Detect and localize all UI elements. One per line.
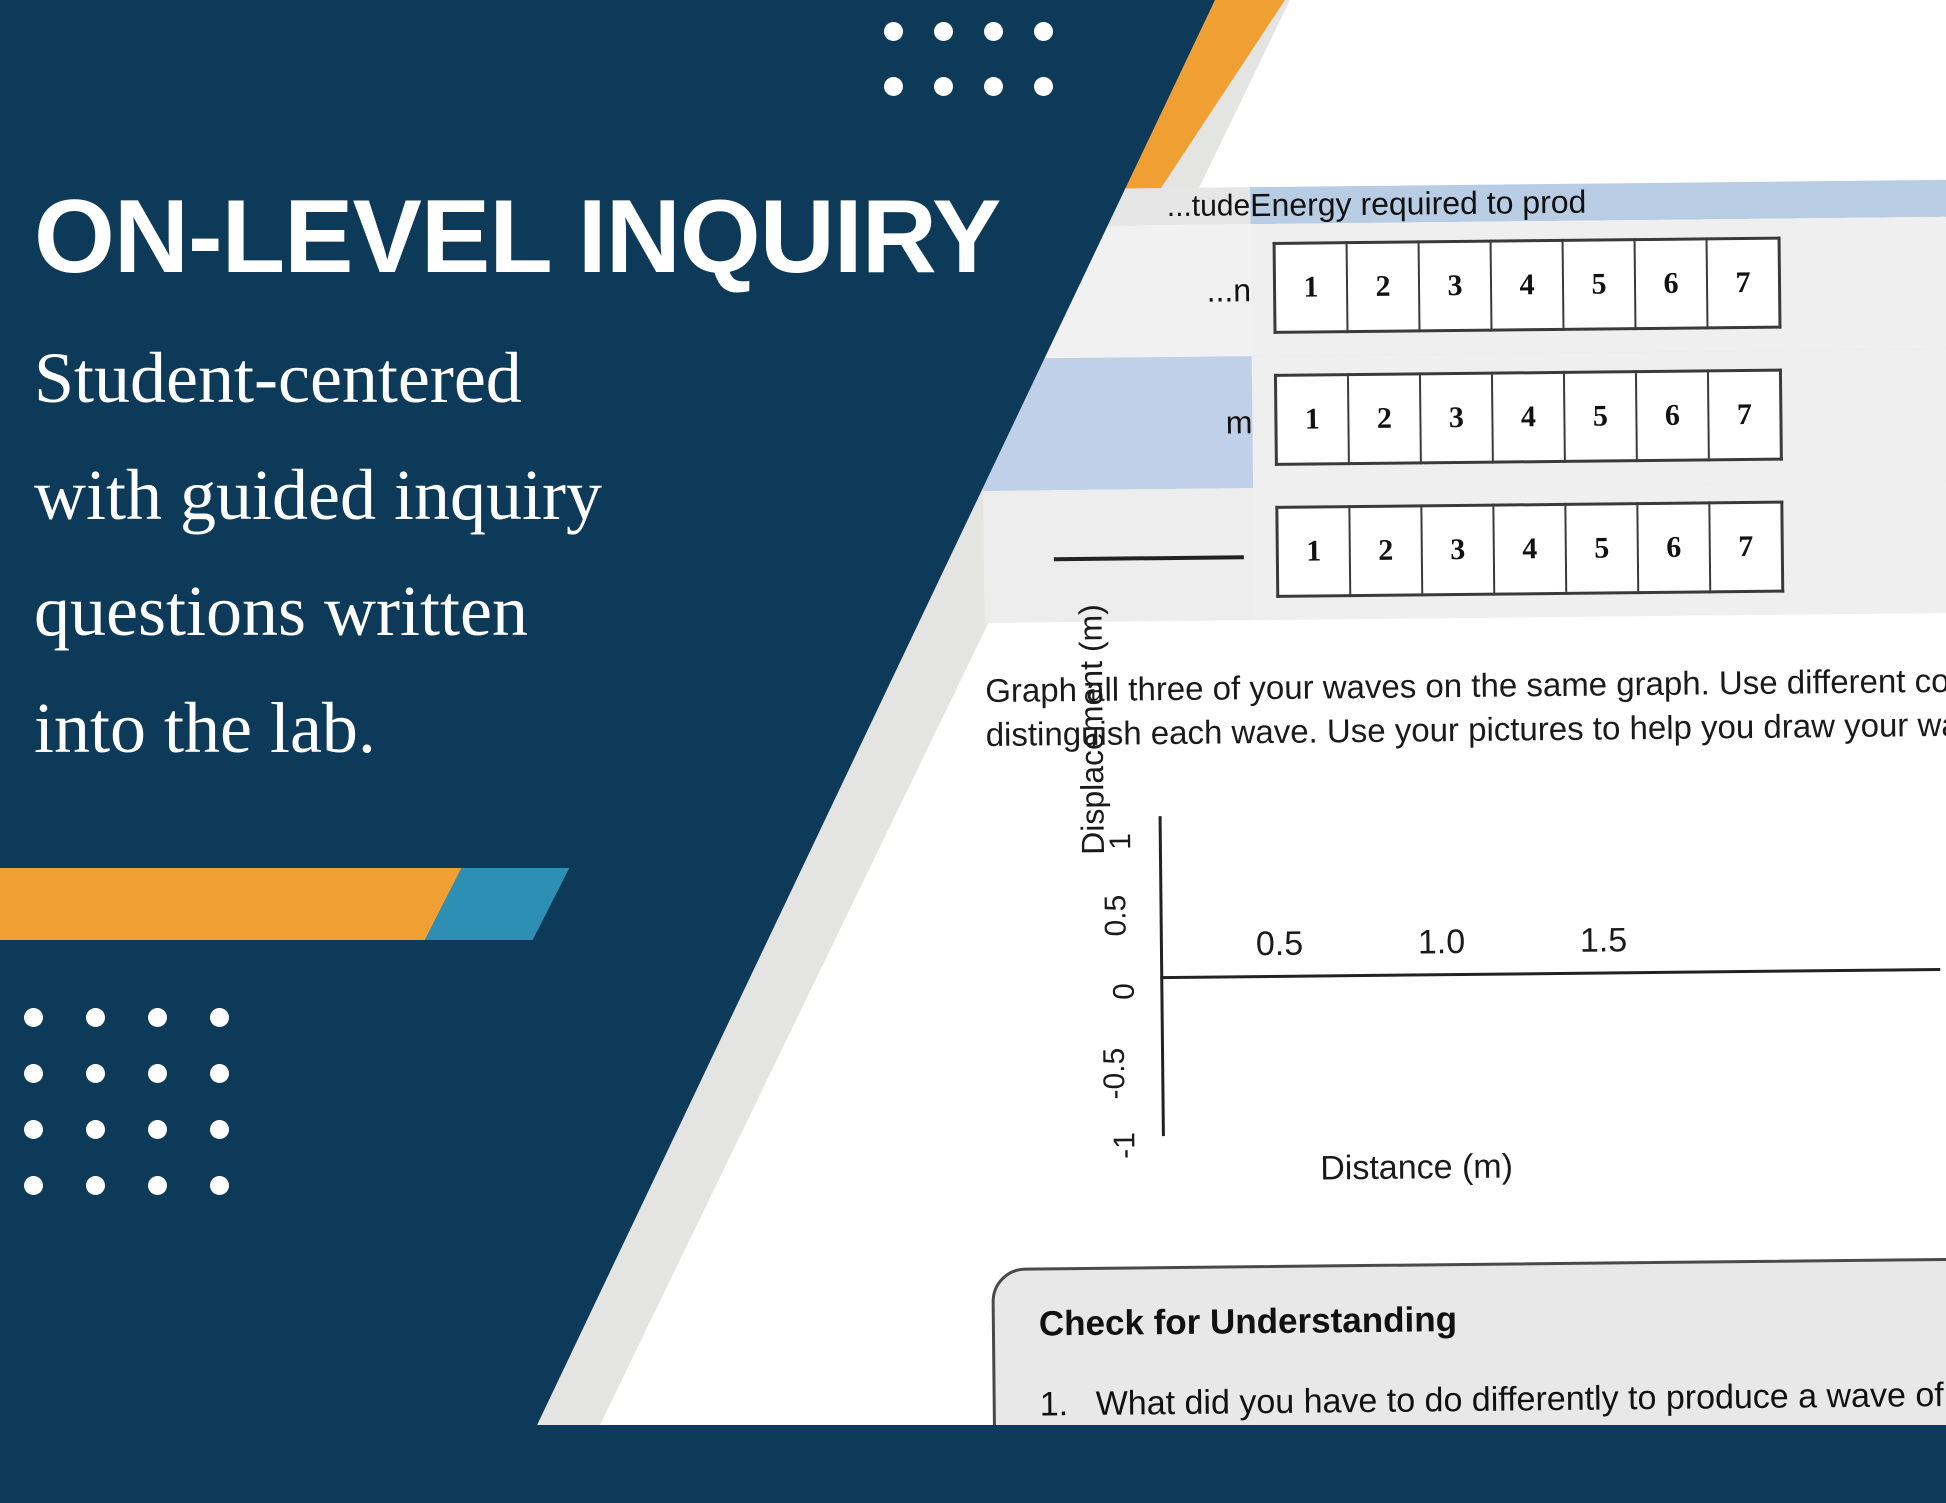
table-row: m 1 2 3 4 5 6 7 <box>982 347 1946 491</box>
y-axis-title: Displacement (m) <box>1072 555 1112 855</box>
x-tick-label: 1.5 <box>1580 921 1628 960</box>
scale-cell[interactable]: 3 <box>1419 241 1492 331</box>
scale-cell[interactable]: 4 <box>1492 372 1565 462</box>
row-scale-cell-2: 1 2 3 4 5 6 7 <box>1252 347 1946 488</box>
energy-scale-3: 1 2 3 4 5 6 7 <box>1275 501 1784 598</box>
scale-cell[interactable]: 6 <box>1635 239 1708 329</box>
energy-scale-1: 1 2 3 4 5 6 7 <box>1273 237 1782 334</box>
dot <box>210 1064 229 1083</box>
dot <box>148 1008 167 1027</box>
y-tick-label: 0.5 <box>1099 895 1133 937</box>
dot <box>148 1176 167 1195</box>
dot <box>24 1008 43 1027</box>
dot <box>884 77 903 96</box>
scale-cell[interactable]: 3 <box>1421 505 1494 595</box>
scale-cell[interactable]: 2 <box>1349 506 1422 596</box>
dot <box>86 1176 105 1195</box>
wave-data-table: ...tude Energy required to prod ...n 1 2… <box>980 178 1946 623</box>
x-tick-label: 0.5 <box>1256 925 1304 964</box>
dot <box>984 77 1003 96</box>
row-scale-cell-3: 1 2 3 4 5 6 7 <box>1253 479 1946 620</box>
dot <box>1034 77 1053 96</box>
subtitle-line: into the lab. <box>34 670 814 787</box>
page-title: ON-LEVEL INQUIRY <box>34 185 1000 289</box>
dot <box>934 77 953 96</box>
scale-cell[interactable]: 2 <box>1347 242 1420 332</box>
table-row: 1 2 3 4 5 6 7 <box>983 479 1946 623</box>
dot <box>86 1064 105 1083</box>
slide-canvas: ...tude Energy required to prod ...n 1 2… <box>0 0 1946 1503</box>
worksheet-content: ...tude Energy required to prod ...n 1 2… <box>980 178 1946 1503</box>
subtitle-line: questions written <box>34 553 814 670</box>
subtitle-line: Student-centered <box>34 320 814 437</box>
scale-cell[interactable]: 7 <box>1708 370 1781 460</box>
scale-cell[interactable]: 4 <box>1491 240 1564 330</box>
navy-footer-bar <box>0 1425 1946 1503</box>
subtitle-text: Student-centered with guided inquiry que… <box>34 320 814 787</box>
dot <box>24 1120 43 1139</box>
scale-cell[interactable]: 2 <box>1348 374 1421 464</box>
dot <box>210 1120 229 1139</box>
dot <box>148 1064 167 1083</box>
table-row: ...n 1 2 3 4 5 6 7 <box>980 215 1946 359</box>
y-tick-label: -1 <box>1108 1132 1142 1159</box>
scale-cell[interactable]: 1 <box>1274 243 1347 333</box>
scale-cell[interactable]: 1 <box>1275 375 1348 465</box>
dot <box>24 1176 43 1195</box>
dot <box>86 1120 105 1139</box>
scale-cell[interactable]: 1 <box>1277 507 1350 597</box>
y-tick-label: 1 <box>1104 833 1138 850</box>
row-label-3 <box>983 488 1254 623</box>
dot <box>148 1120 167 1139</box>
scale-cell[interactable]: 6 <box>1636 371 1709 461</box>
scale-cell[interactable]: 7 <box>1709 502 1782 592</box>
dot <box>24 1064 43 1083</box>
energy-scale-2: 1 2 3 4 5 6 7 <box>1274 369 1783 466</box>
check-for-understanding-title: Check for Understanding <box>1039 1294 1946 1345</box>
scale-cell[interactable]: 6 <box>1637 503 1710 593</box>
dot <box>1034 22 1053 41</box>
subtitle-line: with guided inquiry <box>34 437 814 554</box>
dot-grid-top <box>884 22 1084 132</box>
scale-cell[interactable]: 5 <box>1564 372 1637 462</box>
scale-cell[interactable]: 5 <box>1565 504 1638 594</box>
dot <box>210 1008 229 1027</box>
x-tick-label: 1.0 <box>1418 923 1466 962</box>
x-axis-line <box>1160 968 1940 979</box>
dot <box>86 1008 105 1027</box>
dot <box>984 22 1003 41</box>
scale-cell[interactable]: 7 <box>1707 238 1780 328</box>
graphing-instruction-text: Graph all three of your waves on the sam… <box>985 657 1946 756</box>
dot <box>210 1176 229 1195</box>
y-tick-label: -0.5 <box>1098 1048 1133 1100</box>
dot <box>934 22 953 41</box>
dot-grid-bottom <box>24 1008 272 1232</box>
scale-cell[interactable]: 5 <box>1563 240 1636 330</box>
dot <box>884 22 903 41</box>
y-tick-label: 0 <box>1108 983 1142 1000</box>
row-scale-cell-1: 1 2 3 4 5 6 7 <box>1250 215 1946 356</box>
orange-accent-band <box>0 868 498 940</box>
displacement-distance-graph: Displacement (m) 1 0.5 0 -0.5 -1 0.5 1.0… <box>986 797 1946 1228</box>
scale-cell[interactable]: 4 <box>1493 504 1566 594</box>
x-axis-title: Distance (m) <box>1320 1148 1513 1189</box>
scale-cell[interactable]: 3 <box>1420 373 1493 463</box>
